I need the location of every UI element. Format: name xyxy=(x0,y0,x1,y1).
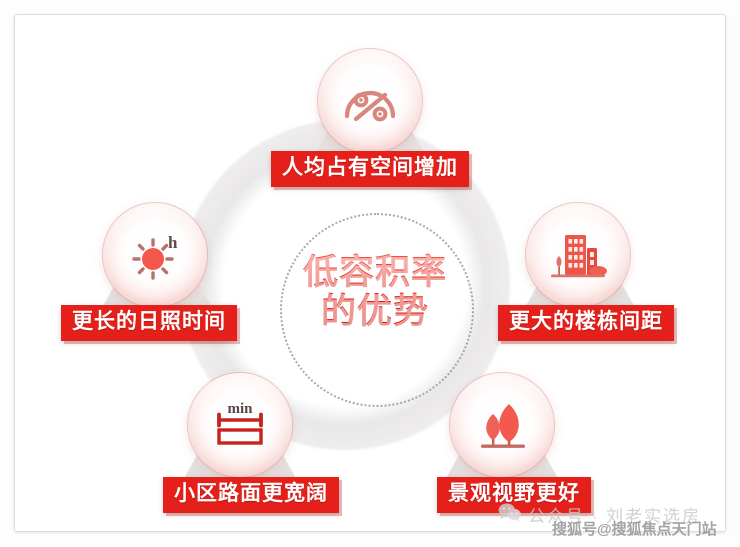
bubble-right[interactable] xyxy=(526,203,630,307)
infographic-card: 低容积率 的优势 人均占有空间增加 xyxy=(14,14,726,532)
bubble-bottom-right[interactable] xyxy=(450,373,554,477)
chip-top[interactable]: 人均占有空间增加 xyxy=(271,151,469,187)
center-title-line1: 低容积率 xyxy=(270,253,480,292)
bubble-top[interactable] xyxy=(318,49,422,153)
chip-left[interactable]: 更长的日照时间 xyxy=(61,305,237,341)
road-width-min-label: min xyxy=(227,401,253,417)
center-title-line2: 的优势 xyxy=(270,292,480,331)
chip-right[interactable]: 更大的楼栋间距 xyxy=(498,305,674,341)
chip-bottom-left[interactable]: 小区路面更宽阔 xyxy=(163,477,339,513)
sun-icon-hour-label: h xyxy=(168,233,178,252)
wechat-icon xyxy=(498,502,522,527)
percent-gauge-icon xyxy=(339,72,401,130)
watermark-sohu: 搜狐号@搜狐焦点天门站 xyxy=(552,518,717,539)
road-width-icon: min xyxy=(209,396,271,454)
sun-hours-icon: h xyxy=(124,226,186,284)
buildings-icon xyxy=(547,226,609,284)
center-title: 低容积率 的优势 xyxy=(270,253,480,331)
bubble-left[interactable]: h xyxy=(103,203,207,307)
infographic-stage: 低容积率 的优势 人均占有空间增加 xyxy=(0,0,740,547)
bubble-bottom-left[interactable]: min xyxy=(188,373,292,477)
trees-icon xyxy=(471,396,533,454)
